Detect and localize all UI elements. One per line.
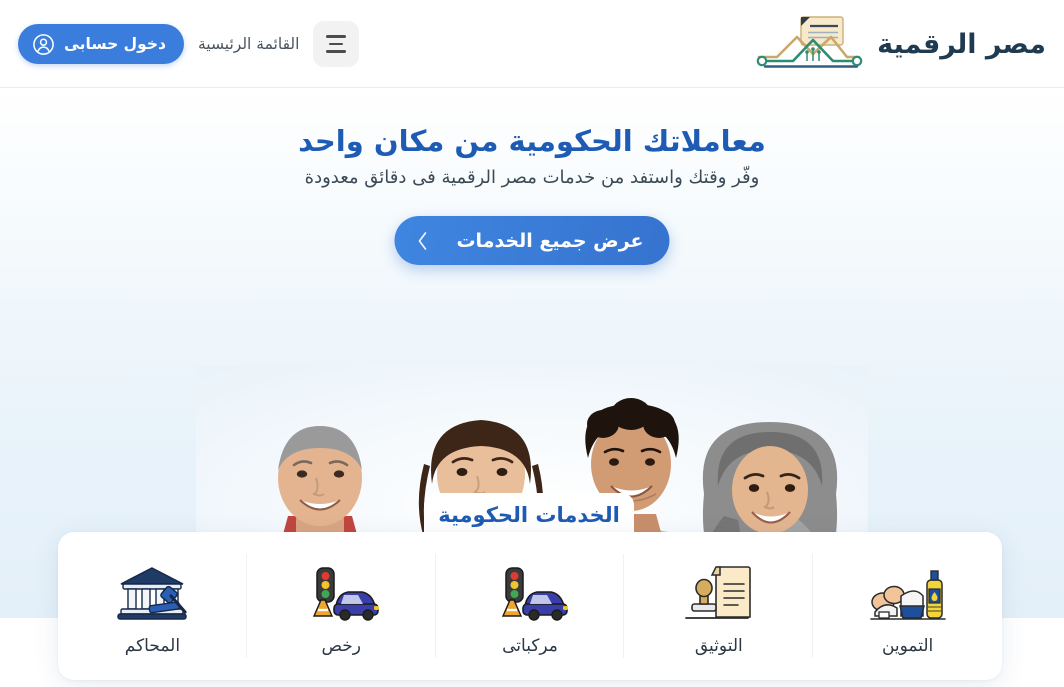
services-tab-title: الخدمات الحكومية	[438, 503, 620, 527]
header-brand-area: مصر الرقمية	[753, 0, 1046, 88]
services-card: التموين التوثيق	[58, 532, 1002, 680]
service-item-my-vehicles[interactable]: مركباتى	[436, 532, 625, 680]
service-item-supply[interactable]: التموين	[813, 532, 1002, 680]
site-header: مصر الرقمية	[0, 0, 1064, 88]
logo-text: مصر الرقمية	[877, 29, 1046, 60]
header-actions: القائمة الرئيسية دخول حسابى	[18, 0, 359, 88]
hero-subtitle: وفّر وقتك واستفد من خدمات مصر الرقمية فى…	[0, 167, 1064, 188]
page-root: مصر الرقمية	[0, 0, 1064, 687]
hero-title: معاملاتك الحكومية من مكان واحد	[0, 124, 1064, 158]
hamburger-line	[326, 50, 346, 53]
traffic-light-car-icon	[300, 562, 382, 626]
hamburger-line	[329, 43, 343, 46]
login-button-label: دخول حسابى	[64, 35, 166, 53]
nav-main-menu-link[interactable]: القائمة الرئيسية	[198, 35, 300, 53]
hamburger-menu-icon[interactable]	[313, 21, 359, 67]
service-item-documentation[interactable]: التوثيق	[624, 532, 813, 680]
services-tab-header: الخدمات الحكومية	[424, 493, 634, 537]
service-label: المحاكم	[125, 636, 180, 656]
service-item-courts[interactable]: المحاكم	[58, 532, 247, 680]
site-logo[interactable]: مصر الرقمية	[753, 14, 1046, 74]
digital-egypt-pyramid-document-logo-icon	[753, 14, 865, 74]
view-all-services-button[interactable]: عرض جميع الخدمات	[394, 216, 669, 265]
document-stamp-icon	[678, 562, 760, 626]
service-label: رخص	[321, 636, 361, 656]
service-item-licenses[interactable]: رخص	[247, 532, 436, 680]
view-all-services-label: عرض جميع الخدمات	[456, 230, 643, 252]
courthouse-gavel-icon	[111, 562, 193, 626]
chevron-left-icon	[414, 230, 430, 252]
user-circle-icon	[32, 33, 55, 56]
hamburger-line	[326, 35, 346, 38]
service-label: التموين	[882, 636, 933, 656]
traffic-light-car-icon	[489, 562, 571, 626]
groceries-supply-icon	[867, 562, 949, 626]
login-button[interactable]: دخول حسابى	[18, 24, 184, 64]
service-label: التوثيق	[695, 636, 743, 656]
service-label: مركباتى	[502, 636, 558, 656]
